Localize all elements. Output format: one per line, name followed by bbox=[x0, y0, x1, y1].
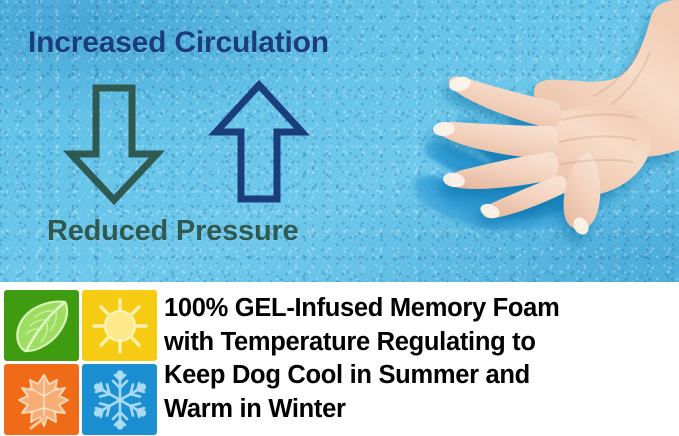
product-marketing-graphic: Increased Circulation Reduced Pressure bbox=[0, 0, 679, 436]
season-icon-grid bbox=[4, 290, 157, 436]
info-band: 100% GEL-Infused Memory Foam with Temper… bbox=[0, 282, 679, 436]
sun-icon bbox=[89, 296, 151, 356]
copy-line-2: with Temperature Regulating to bbox=[164, 326, 676, 360]
season-tile-summer bbox=[82, 290, 157, 361]
season-tile-spring bbox=[4, 290, 79, 361]
hand-illustration bbox=[380, 0, 679, 282]
up-arrow-icon bbox=[208, 78, 310, 211]
maple-leaf-icon bbox=[11, 370, 73, 430]
subline-reduced-pressure: Reduced Pressure bbox=[47, 215, 298, 248]
copy-line-3: Keep Dog Cool in Summer and bbox=[164, 359, 676, 393]
copy-line-1: 100% GEL-Infused Memory Foam bbox=[164, 292, 676, 326]
season-tile-autumn bbox=[4, 364, 79, 435]
leaf-icon bbox=[11, 296, 73, 356]
copy-line-4: Warm in Winter bbox=[164, 393, 676, 427]
hand-on-foam-photo bbox=[380, 0, 679, 282]
down-arrow-icon bbox=[63, 82, 165, 212]
season-tile-winter bbox=[82, 364, 157, 435]
snowflake-icon bbox=[89, 370, 151, 430]
foam-photo-panel: Increased Circulation Reduced Pressure bbox=[0, 0, 679, 282]
headline-increased-circulation: Increased Circulation bbox=[28, 26, 329, 60]
marketing-copy: 100% GEL-Infused Memory Foam with Temper… bbox=[164, 292, 676, 426]
